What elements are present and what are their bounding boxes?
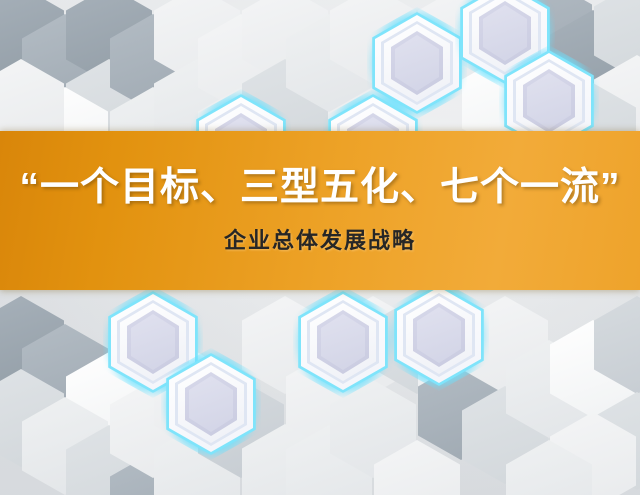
glowing-hexagon [300, 293, 386, 391]
slide-subtitle: 企业总体发展战略 [224, 223, 416, 255]
glowing-hexagon [396, 286, 482, 384]
glowing-hexagon [168, 355, 254, 453]
title-banner: “一个目标、三型五化、七个一流” 企业总体发展战略 [0, 131, 640, 290]
slide-title: “一个目标、三型五化、七个一流” [19, 166, 620, 210]
title-slide: “一个目标、三型五化、七个一流” 企业总体发展战略 [0, 0, 640, 495]
